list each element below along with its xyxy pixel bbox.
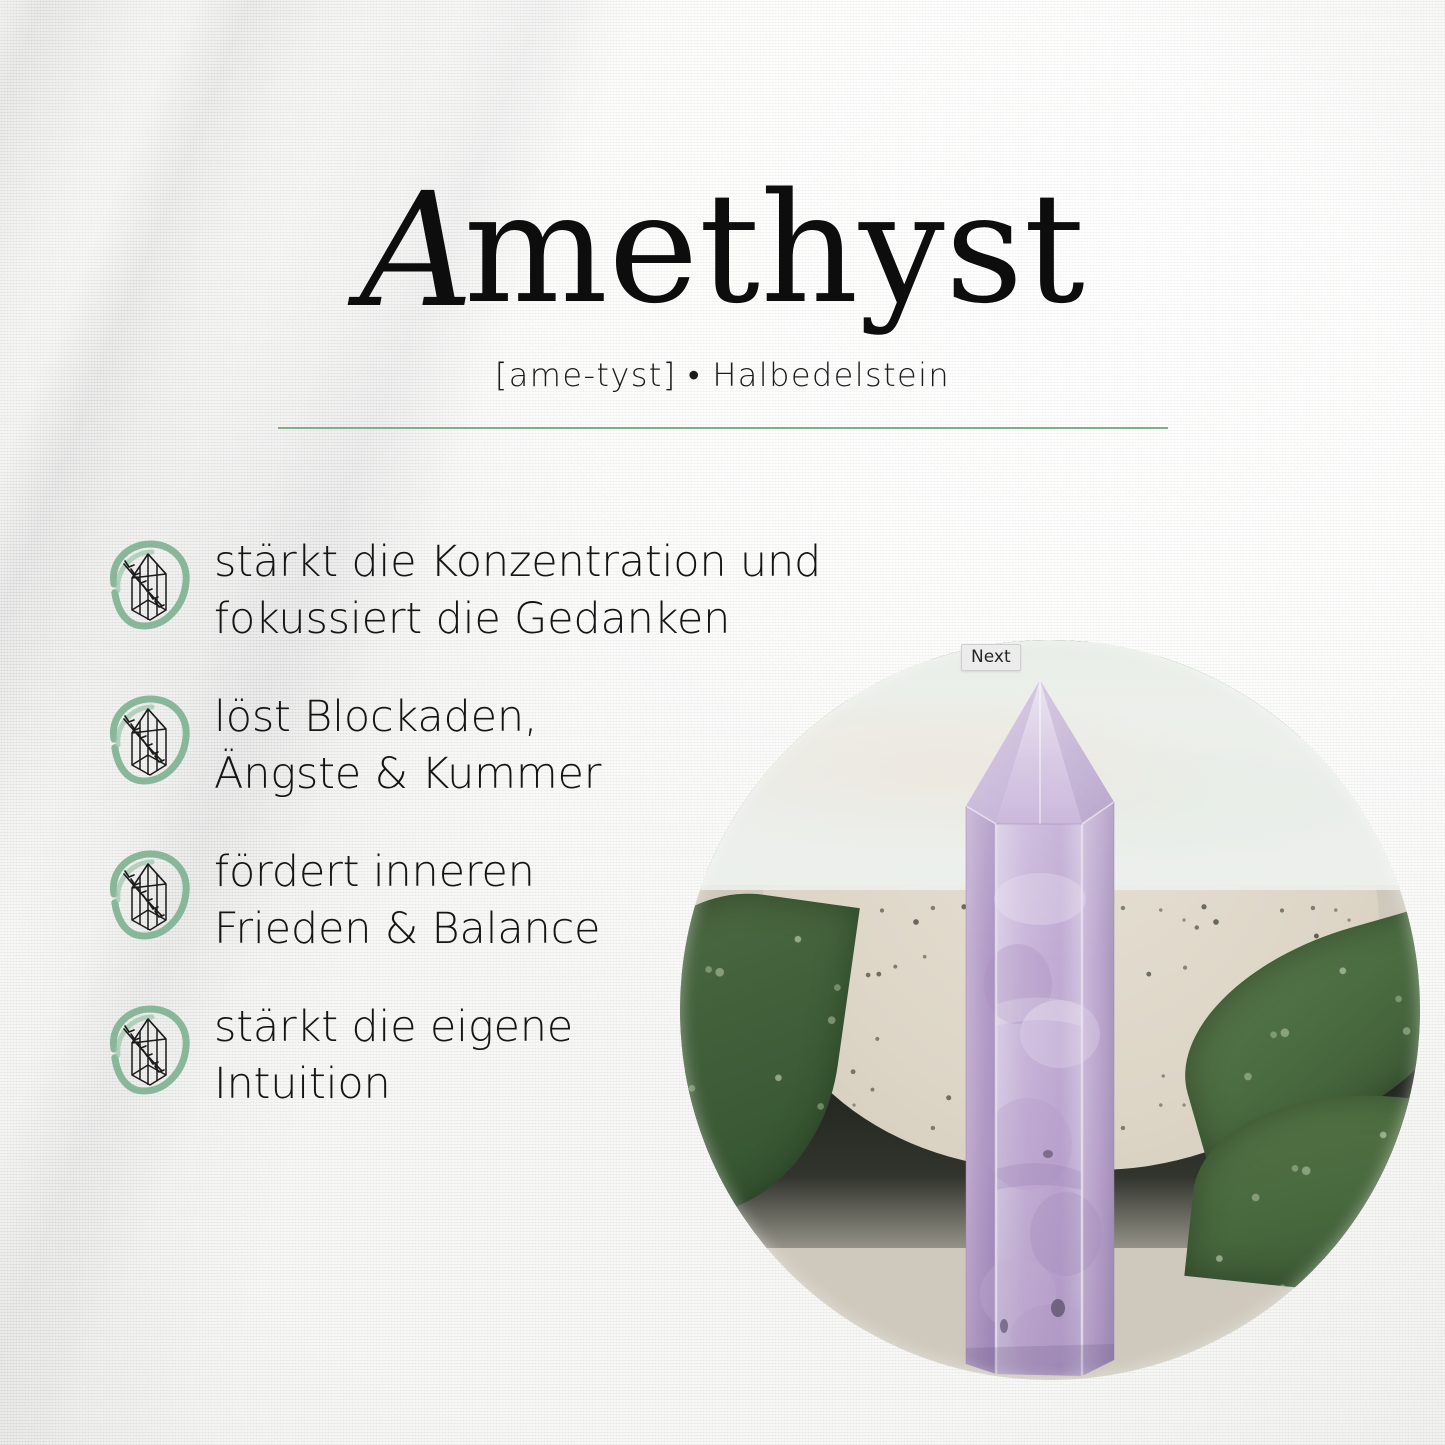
product-photo-circle	[680, 640, 1420, 1380]
benefit-label: fördert inneren Frieden & Balance	[214, 838, 600, 958]
product-graphic-canvas: Amethyst [ame-tyst] • Halbedelstein	[0, 0, 1445, 1445]
benefit-label: löst Blockaden, Ängste & Kummer	[214, 683, 601, 803]
crystal-vine-icon	[96, 999, 200, 1103]
crystal-vine-icon	[96, 844, 200, 948]
crystal-vine-icon	[96, 689, 200, 793]
page-subtitle: [ame-tyst] • Halbedelstein	[0, 356, 1445, 394]
page-title-rest: methyst	[464, 160, 1086, 337]
amethyst-crystal-tower	[948, 674, 1133, 1380]
crystal-vine-icon	[96, 534, 200, 638]
benefit-label: stärkt die Konzentration und fokussiert …	[214, 528, 821, 648]
next-button[interactable]: Next	[961, 644, 1021, 671]
benefit-label: stärkt die eigene Intuition	[214, 993, 573, 1113]
decorative-a-glyph: A	[360, 159, 464, 343]
page-title: Amethyst	[0, 168, 1445, 326]
header-divider	[278, 427, 1168, 429]
